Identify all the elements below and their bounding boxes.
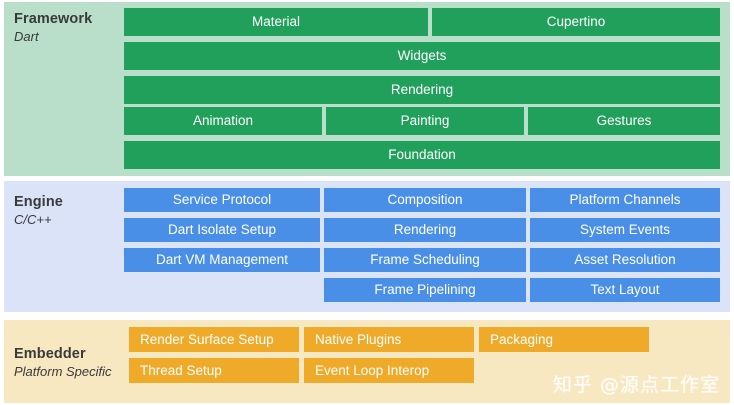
- framework-box-cupertino-label: Cupertino: [547, 15, 606, 29]
- framework-box-gestures-label: Gestures: [597, 114, 652, 128]
- engine-box-platform-channels[interactable]: Platform Channels: [530, 188, 720, 212]
- engine-box-frame-pipelining-label: Frame Pipelining: [374, 283, 475, 297]
- framework-box-animation[interactable]: Animation: [124, 107, 322, 135]
- engine-box-dart-isolate-setup[interactable]: Dart Isolate Setup: [124, 218, 320, 242]
- engine-box-platform-channels-label: Platform Channels: [569, 193, 680, 207]
- framework-box-animation-label: Animation: [193, 114, 253, 128]
- embedder-box-render-surface-setup[interactable]: Render Surface Setup: [129, 327, 299, 352]
- framework-box-widgets-label: Widgets: [398, 49, 447, 63]
- engine-box-dart-isolate-setup-label: Dart Isolate Setup: [168, 223, 276, 237]
- engine-box-service-protocol-label: Service Protocol: [173, 193, 271, 207]
- engine-box-rendering-label: Rendering: [394, 223, 456, 237]
- framework-box-rendering[interactable]: Rendering: [124, 76, 720, 104]
- framework-title-main: Framework: [14, 10, 124, 28]
- framework-title-sub: Dart: [14, 28, 124, 45]
- engine-box-composition[interactable]: Composition: [324, 188, 526, 212]
- engine-box-frame-scheduling-label: Frame Scheduling: [370, 253, 480, 267]
- embedder-layer-panel: Embedder Platform Specific Render Surfac…: [4, 320, 730, 403]
- engine-title-main: Engine: [14, 193, 124, 211]
- engine-layer-panel: Engine C/C++ Service Protocol Dart Isola…: [4, 181, 730, 312]
- embedder-box-render-surface-setup-label: Render Surface Setup: [140, 333, 274, 347]
- framework-box-painting-label: Painting: [401, 114, 450, 128]
- engine-box-service-protocol[interactable]: Service Protocol: [124, 188, 320, 212]
- framework-box-cupertino[interactable]: Cupertino: [432, 8, 720, 36]
- embedder-box-native-plugins[interactable]: Native Plugins: [304, 327, 474, 352]
- engine-box-rendering[interactable]: Rendering: [324, 218, 526, 242]
- engine-box-system-events-label: System Events: [580, 223, 670, 237]
- framework-box-foundation-label: Foundation: [388, 148, 456, 162]
- engine-box-asset-resolution-label: Asset Resolution: [574, 253, 675, 267]
- engine-box-system-events[interactable]: System Events: [530, 218, 720, 242]
- engine-box-composition-label: Composition: [387, 193, 462, 207]
- engine-box-dart-vm-management-label: Dart VM Management: [156, 253, 288, 267]
- framework-box-gestures[interactable]: Gestures: [528, 107, 720, 135]
- framework-box-material-label: Material: [252, 15, 300, 29]
- embedder-layer-title: Embedder Platform Specific: [14, 345, 124, 380]
- engine-layer-title: Engine C/C++: [14, 193, 124, 228]
- flutter-architecture-diagram: Framework Dart Material Cupertino Widget…: [0, 0, 734, 405]
- engine-box-dart-vm-management[interactable]: Dart VM Management: [124, 248, 320, 272]
- embedder-box-thread-setup-label: Thread Setup: [140, 364, 222, 378]
- engine-box-text-layout-label: Text Layout: [590, 283, 659, 297]
- framework-box-widgets[interactable]: Widgets: [124, 42, 720, 70]
- embedder-box-native-plugins-label: Native Plugins: [315, 333, 401, 347]
- framework-box-painting[interactable]: Painting: [326, 107, 524, 135]
- framework-box-material[interactable]: Material: [124, 8, 428, 36]
- framework-layer-panel: Framework Dart Material Cupertino Widget…: [4, 2, 730, 176]
- engine-box-text-layout[interactable]: Text Layout: [530, 278, 720, 302]
- embedder-title-main: Embedder: [14, 345, 124, 363]
- engine-title-sub: C/C++: [14, 211, 124, 228]
- engine-box-frame-pipelining[interactable]: Frame Pipelining: [324, 278, 526, 302]
- framework-box-foundation[interactable]: Foundation: [124, 141, 720, 169]
- framework-layer-title: Framework Dart: [14, 10, 124, 45]
- embedder-box-event-loop-interop-label: Event Loop Interop: [315, 364, 429, 378]
- engine-box-frame-scheduling[interactable]: Frame Scheduling: [324, 248, 526, 272]
- embedder-box-event-loop-interop[interactable]: Event Loop Interop: [304, 358, 474, 383]
- embedder-box-packaging[interactable]: Packaging: [479, 327, 649, 352]
- engine-box-asset-resolution[interactable]: Asset Resolution: [530, 248, 720, 272]
- framework-box-rendering-label: Rendering: [391, 83, 453, 97]
- embedder-title-sub: Platform Specific: [14, 363, 124, 380]
- embedder-box-packaging-label: Packaging: [490, 333, 553, 347]
- embedder-box-thread-setup[interactable]: Thread Setup: [129, 358, 299, 383]
